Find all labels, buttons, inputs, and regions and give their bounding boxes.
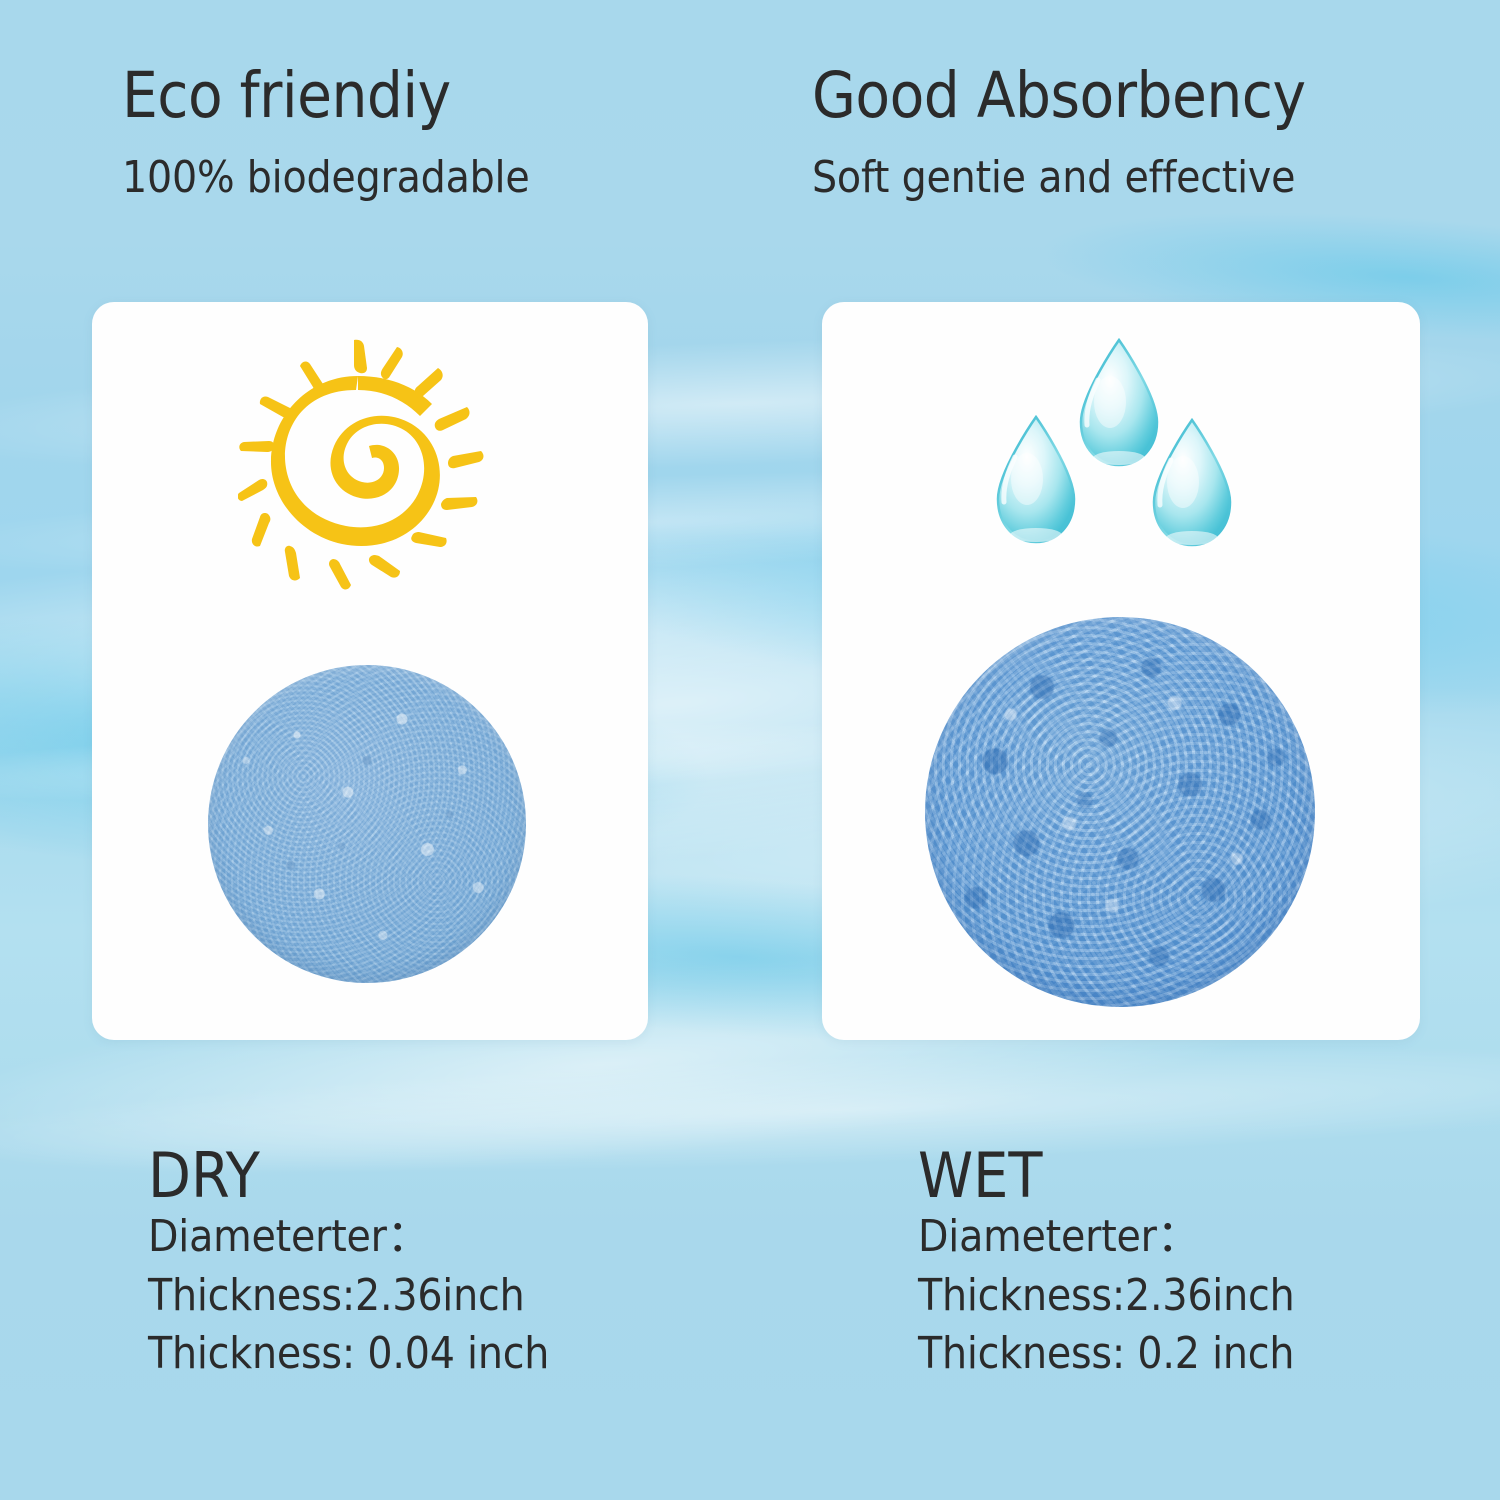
droplet-top (1081, 340, 1157, 465)
spec-state-label: WET (918, 1143, 1500, 1208)
spec-diameter: Diameterter： (918, 1208, 1500, 1267)
feature-subtitle: 100% biodegradable (122, 152, 762, 205)
dry-sponge-image (208, 665, 526, 983)
wet-sponge-image (925, 617, 1315, 1007)
droplet-right (1154, 420, 1230, 545)
dry-spec-block: DRY Diameterter： Thickness:2.36inch Thic… (148, 1143, 768, 1384)
spec-thickness-1: Thickness:2.36inch (148, 1267, 768, 1326)
spec-thickness-2: Thickness: 0.04 inch (148, 1325, 768, 1384)
droplet-left (998, 417, 1074, 542)
feature-title: Good Absorbency (812, 62, 1452, 130)
spec-thickness-2: Thickness: 0.2 inch (918, 1325, 1500, 1384)
spec-diameter: Diameterter： (148, 1208, 768, 1267)
spec-state-label: DRY (148, 1143, 768, 1208)
feature-subtitle: Soft gentie and effective (812, 152, 1452, 205)
sun-icon (238, 338, 506, 600)
feature-heading-eco-friendly: Eco friendiy 100% biodegradable (122, 62, 762, 205)
spec-thickness-1: Thickness:2.36inch (918, 1267, 1500, 1326)
water-droplets-icon (986, 332, 1256, 582)
wet-spec-block: WET Diameterter： Thickness:2.36inch Thic… (918, 1143, 1500, 1384)
feature-heading-good-absorbency: Good Absorbency Soft gentie and effectiv… (812, 62, 1452, 205)
feature-title: Eco friendiy (122, 62, 762, 130)
infographic-canvas: Eco friendiy 100% biodegradable Good Abs… (0, 0, 1500, 1500)
